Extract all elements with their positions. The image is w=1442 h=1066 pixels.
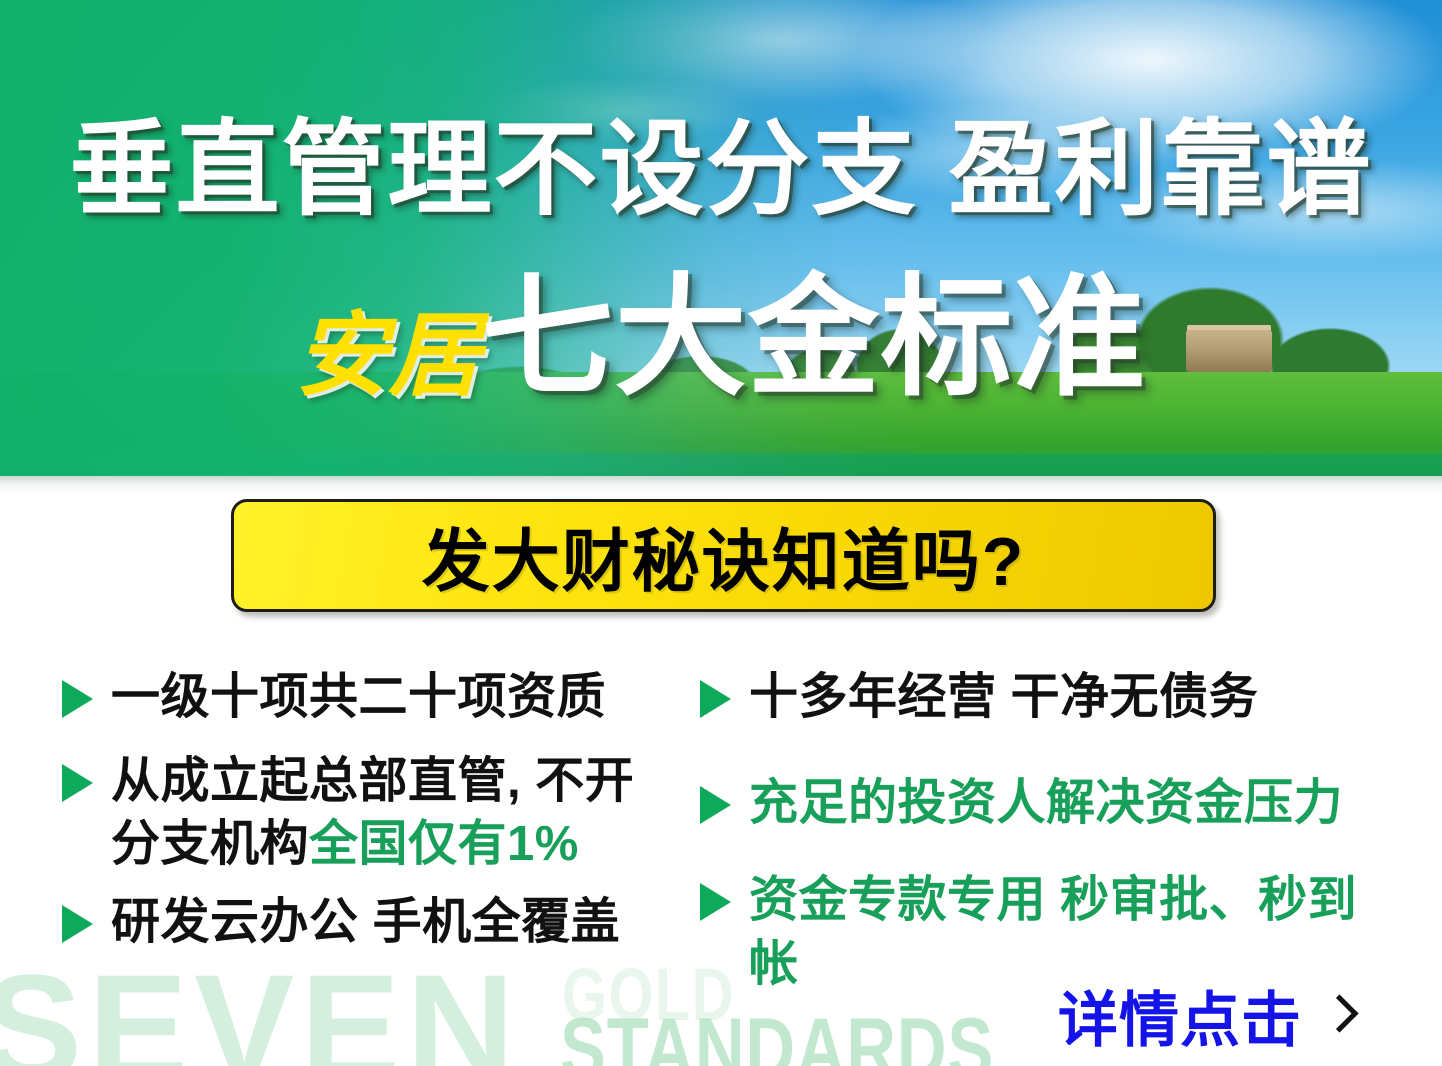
details-cta-link[interactable]: 详情点击 <box>1058 972 1350 1059</box>
question-banner[interactable]: 发大财秘诀知道吗? <box>231 499 1216 612</box>
feature-item-label: 充足的投资人解决资金压力 <box>749 772 1343 836</box>
feature-list-right: 十多年经营 干净无债务 充足的投资人解决资金压力 资金专款专用 秒审批、秒到帐 <box>700 666 1400 1017</box>
hero-bottom-shadow <box>0 476 1442 494</box>
feature-item-cloud-office: 研发云办公 手机全覆盖 <box>62 891 682 955</box>
triangle-right-icon <box>62 764 93 802</box>
feature-item-label: 从成立起总部直管, 不开 分支机构全国仅有1% <box>111 750 634 877</box>
feature-item-highlight: 全国仅有1% <box>309 817 579 871</box>
hero-headline-main: 七大金标准 <box>482 272 1147 404</box>
brand-word: 安居 <box>295 310 481 402</box>
triangle-right-icon <box>700 786 731 824</box>
triangle-right-icon <box>700 680 731 718</box>
hero-headline-main-row: 安居七大金标准 <box>0 272 1442 404</box>
feature-item-direct-management: 从成立起总部直管, 不开 分支机构全国仅有1% <box>62 750 682 877</box>
details-cta-label: 详情点击 <box>1058 972 1302 1059</box>
advertisement-banner: 垂直管理不设分支 盈利靠谱 安居七大金标准 发大财秘诀知道吗? SEVEN GO… <box>0 0 1442 1066</box>
feature-list-left: 一级十项共二十项资质 从成立起总部直管, 不开 分支机构全国仅有1% 研发云办公… <box>62 666 682 975</box>
feature-item-label: 一级十项共二十项资质 <box>111 666 606 730</box>
chevron-right-icon <box>1324 993 1350 1039</box>
feature-item-label: 研发云办公 手机全覆盖 <box>111 891 620 955</box>
feature-item-ten-years: 十多年经营 干净无债务 <box>700 666 1400 730</box>
feature-item-label: 十多年经营 干净无债务 <box>749 666 1258 730</box>
question-banner-text: 发大财秘诀知道吗? <box>422 506 1026 605</box>
triangle-right-icon <box>62 905 93 943</box>
hero-headline-top: 垂直管理不设分支 盈利靠谱 <box>0 118 1442 222</box>
triangle-right-icon <box>700 883 731 921</box>
feature-item-investors: 充足的投资人解决资金压力 <box>700 772 1400 836</box>
feature-item-qualifications: 一级十项共二十项资质 <box>62 666 682 730</box>
triangle-right-icon <box>62 680 93 718</box>
